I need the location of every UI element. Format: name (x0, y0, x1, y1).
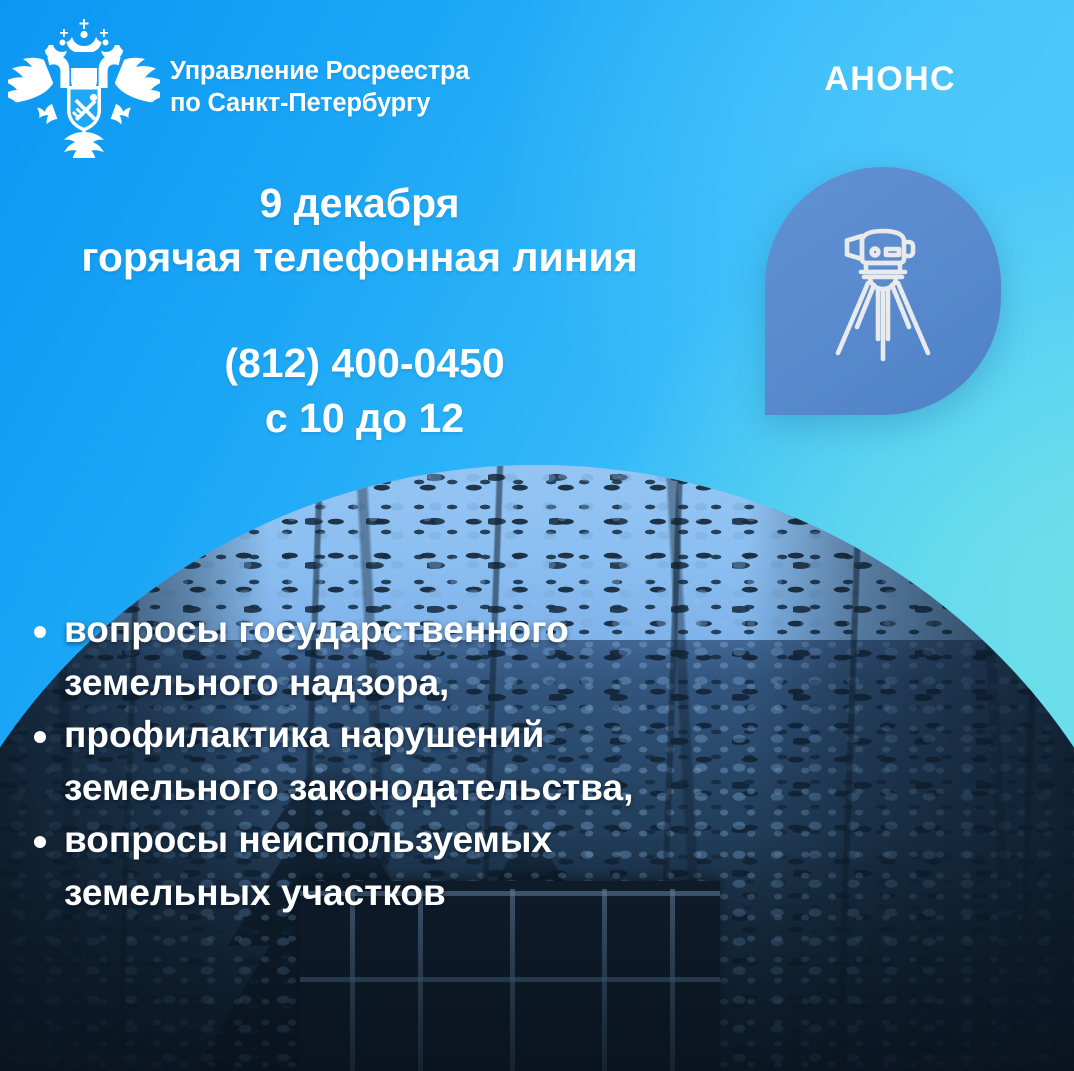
bullet-dot-icon (34, 626, 46, 638)
theodolite-icon (818, 215, 948, 367)
list-item: вопросы государственного земельного надз… (34, 604, 834, 709)
rosreestr-double-headed-eagle-icon (8, 16, 160, 158)
list-item-label: вопросы государственного земельного надз… (64, 604, 834, 709)
list-item-label: вопросы неиспользуемых земельных участко… (64, 814, 834, 919)
poster-canvas: Управление Росреестра по Санкт-Петербург… (0, 0, 1074, 1071)
list-item: профилактика нарушений земельного законо… (34, 709, 834, 814)
headline-date: 9 декабря (0, 176, 719, 230)
working-hours: с 10 до 12 (0, 391, 729, 446)
headline: 9 декабря горячая телефонная линия (0, 176, 719, 284)
bullet-dot-icon (34, 836, 46, 848)
organization-name: Управление Росреестра по Санкт-Петербург… (170, 55, 469, 119)
contact-block: (812) 400-0450 с 10 до 12 (0, 336, 729, 446)
phone-number[interactable]: (812) 400-0450 (0, 336, 729, 391)
list-item-label: профилактика нарушений земельного законо… (64, 709, 834, 814)
announce-label: АНОНС (824, 60, 956, 99)
theodolite-badge (765, 167, 1001, 415)
topics-list: вопросы государственного земельного надз… (34, 604, 834, 919)
organization-logo-block: Управление Росреестра по Санкт-Петербург… (8, 16, 469, 158)
bullet-dot-icon (34, 731, 46, 743)
list-item: вопросы неиспользуемых земельных участко… (34, 814, 834, 919)
headline-subject: горячая телефонная линия (0, 230, 719, 284)
